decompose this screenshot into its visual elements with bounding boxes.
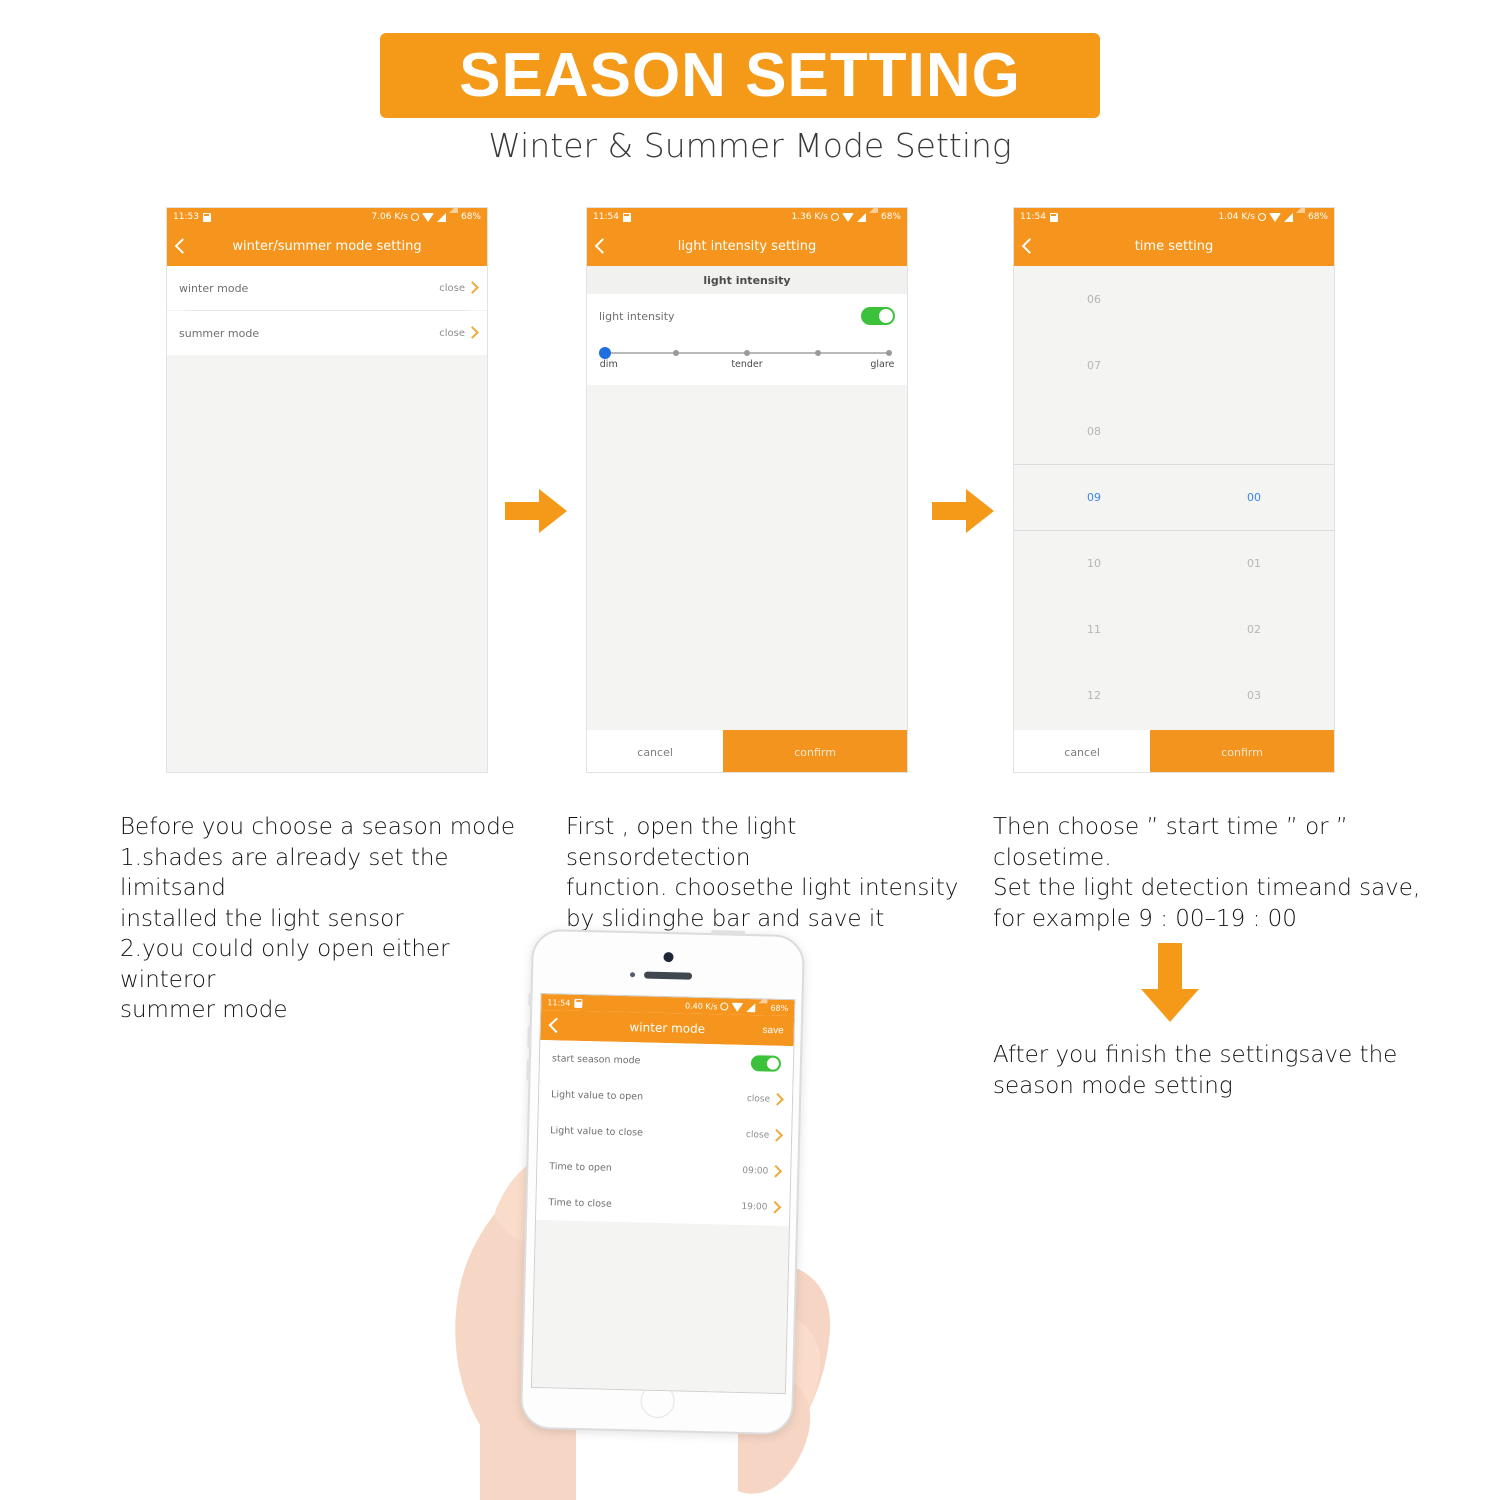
screen-body: 06 07 08 09 10 11 12 00 01 02 03 cancel … bbox=[1014, 266, 1334, 773]
wifi-icon bbox=[731, 1002, 743, 1011]
row-label: summer mode bbox=[179, 327, 259, 340]
slider-thumb[interactable] bbox=[599, 347, 611, 359]
slider-tick bbox=[673, 350, 679, 356]
status-time: 11:53 bbox=[173, 212, 199, 222]
row-label: Time to open bbox=[549, 1161, 612, 1174]
signal-secondary-icon bbox=[869, 213, 878, 222]
slider-track[interactable] bbox=[605, 352, 889, 354]
row-label: winter mode bbox=[179, 282, 248, 295]
picker-item-hour[interactable]: 12 bbox=[1087, 662, 1101, 728]
hand-holding-phone: 11:54 0.40 K/s 68% winter mode bbox=[330, 905, 860, 1500]
slider-label-tender: tender bbox=[731, 359, 762, 370]
light-intensity-slider[interactable]: dim tender glare bbox=[587, 338, 907, 385]
screen-filler bbox=[587, 385, 907, 730]
picker-item-minute-selected[interactable]: 00 bbox=[1247, 464, 1261, 530]
app-bar-title: winter/summer mode setting bbox=[167, 239, 487, 254]
page-subtitle: Winter & Summer Mode Setting bbox=[0, 126, 1500, 165]
chevron-right-icon bbox=[771, 1093, 784, 1106]
screenshot-winter-summer-mode-setting: 11:53 7.06 K/s 68% winter/summer mode se… bbox=[166, 207, 488, 773]
caption-step-4: After you finish the settingsave the sea… bbox=[993, 1040, 1413, 1101]
phone-screen: 11:54 0.40 K/s 68% winter mode bbox=[531, 993, 796, 1394]
slider-tick bbox=[815, 350, 821, 356]
slider-tick bbox=[744, 350, 750, 356]
status-network-speed: 1.04 K/s bbox=[1218, 212, 1255, 222]
confirm-button[interactable]: confirm bbox=[1150, 730, 1334, 773]
arrow-down-icon bbox=[1140, 943, 1200, 1023]
phone-device: 11:54 0.40 K/s 68% winter mode bbox=[520, 929, 805, 1436]
power-button[interactable] bbox=[711, 930, 745, 936]
chevron-right-icon bbox=[769, 1165, 782, 1178]
picker-column-hours[interactable]: 06 07 08 09 10 11 12 bbox=[1014, 266, 1174, 730]
volume-up-button[interactable] bbox=[527, 1026, 532, 1048]
row-label: Time to close bbox=[548, 1197, 612, 1210]
row-value: close bbox=[439, 328, 465, 339]
status-bar: 11:54 1.04 K/s 68% bbox=[1014, 208, 1334, 226]
row-light-value-to-close[interactable]: Light value to close close bbox=[538, 1112, 792, 1154]
signal-secondary-icon bbox=[1296, 213, 1305, 222]
status-time: 11:54 bbox=[547, 998, 570, 1008]
row-label: Light value to open bbox=[551, 1089, 643, 1102]
screen-body: light intensity light intensity dim tend… bbox=[587, 266, 907, 773]
row-light-value-to-open[interactable]: Light value to open close bbox=[539, 1076, 793, 1118]
screenshot-time-setting: 11:54 1.04 K/s 68% time setting 06 bbox=[1013, 207, 1335, 773]
slider-tick bbox=[886, 350, 892, 356]
app-bar: time setting bbox=[1014, 226, 1334, 266]
save-button[interactable]: save bbox=[762, 1025, 783, 1037]
confirm-button[interactable]: confirm bbox=[723, 730, 907, 773]
page-title: SEASON SETTING bbox=[459, 40, 1021, 111]
picker-item-minute[interactable]: 01 bbox=[1247, 530, 1261, 596]
row-label: Light value to close bbox=[550, 1125, 643, 1138]
chevron-right-icon bbox=[466, 326, 479, 339]
signal-icon bbox=[1284, 213, 1293, 222]
row-value: close bbox=[747, 1094, 770, 1105]
picker-item-hour[interactable]: 11 bbox=[1087, 596, 1101, 662]
screen-body: start season mode Light value to open cl… bbox=[532, 1040, 793, 1394]
row-winter-mode[interactable]: winter mode close bbox=[167, 266, 487, 310]
status-battery: 68% bbox=[770, 1003, 788, 1012]
earpiece-speaker bbox=[643, 971, 691, 979]
picker-item-minute[interactable]: 02 bbox=[1247, 596, 1261, 662]
status-battery: 68% bbox=[461, 212, 481, 222]
proximity-sensor-icon bbox=[629, 972, 634, 977]
title-banner: SEASON SETTING bbox=[380, 33, 1100, 118]
app-bar-title: winter mode bbox=[541, 1018, 794, 1038]
picker-item-hour-selected[interactable]: 09 bbox=[1087, 464, 1101, 530]
row-value: 19:00 bbox=[741, 1202, 767, 1213]
picker-item-hour[interactable]: 08 bbox=[1087, 398, 1101, 464]
status-time: 11:54 bbox=[593, 212, 619, 222]
picker-item-hour[interactable]: 06 bbox=[1087, 266, 1101, 332]
status-bar: 11:53 7.06 K/s 68% bbox=[167, 208, 487, 226]
status-bar: 11:54 1.36 K/s 68% bbox=[587, 208, 907, 226]
chevron-right-icon bbox=[769, 1201, 782, 1214]
app-bar-title: light intensity setting bbox=[587, 239, 907, 254]
signal-secondary-icon bbox=[758, 1003, 767, 1012]
start-season-mode-toggle[interactable] bbox=[751, 1055, 781, 1072]
status-battery: 68% bbox=[1308, 212, 1328, 222]
section-header-light-intensity: light intensity bbox=[587, 266, 907, 294]
status-network-speed: 7.06 K/s bbox=[371, 212, 408, 222]
sdcard-icon bbox=[623, 213, 631, 222]
volume-down-button[interactable] bbox=[526, 1059, 531, 1081]
wifi-icon bbox=[1269, 213, 1281, 222]
button-bar: cancel confirm bbox=[1014, 730, 1334, 773]
row-value: close bbox=[439, 283, 465, 294]
chevron-right-icon bbox=[770, 1129, 783, 1142]
slider-label-glare: glare bbox=[870, 359, 894, 370]
toggle-knob bbox=[879, 309, 893, 323]
sdcard-icon bbox=[1050, 213, 1058, 222]
screen-body: winter mode close summer mode close bbox=[167, 266, 487, 773]
picker-item-hour[interactable]: 07 bbox=[1087, 332, 1101, 398]
app-bar: winter/summer mode setting bbox=[167, 226, 487, 266]
alarm-icon bbox=[831, 213, 839, 221]
button-bar: cancel confirm bbox=[587, 730, 907, 773]
wifi-icon bbox=[422, 213, 434, 222]
cancel-button[interactable]: cancel bbox=[1014, 730, 1150, 773]
status-network-speed: 1.36 K/s bbox=[791, 212, 828, 222]
cancel-button[interactable]: cancel bbox=[587, 730, 723, 773]
chevron-right-icon bbox=[466, 281, 479, 294]
signal-icon bbox=[746, 1003, 755, 1012]
status-battery: 68% bbox=[881, 212, 901, 222]
picker-item-minute[interactable]: 03 bbox=[1247, 662, 1261, 728]
arrow-right-icon-1 bbox=[505, 488, 567, 534]
arrow-right-icon-2 bbox=[932, 488, 994, 534]
row-label: start season mode bbox=[552, 1053, 641, 1066]
status-time: 11:54 bbox=[1020, 212, 1046, 222]
row-time-to-close[interactable]: Time to close 19:00 bbox=[536, 1184, 790, 1226]
sdcard-icon bbox=[574, 998, 582, 1007]
poster-page: SEASON SETTING Winter & Summer Mode Sett… bbox=[0, 0, 1500, 1500]
caption-step-3: Then choose ” start time ” or ” closetim… bbox=[993, 812, 1443, 934]
alarm-icon bbox=[1258, 213, 1266, 221]
app-bar: light intensity setting bbox=[587, 226, 907, 266]
row-label: light intensity bbox=[599, 310, 675, 323]
toggle-knob bbox=[767, 1058, 779, 1070]
alarm-icon bbox=[720, 1002, 728, 1010]
screenshot-light-intensity-setting: 11:54 1.36 K/s 68% light intensity setti… bbox=[586, 207, 908, 773]
row-time-to-open[interactable]: Time to open 09:00 bbox=[537, 1148, 791, 1190]
time-picker[interactable]: 06 07 08 09 10 11 12 00 01 02 03 bbox=[1014, 266, 1334, 730]
signal-icon bbox=[857, 213, 866, 222]
signal-icon bbox=[437, 213, 446, 222]
picker-column-minutes[interactable]: 00 01 02 03 bbox=[1174, 266, 1334, 730]
mute-switch[interactable] bbox=[528, 993, 532, 1007]
light-intensity-toggle[interactable] bbox=[861, 307, 895, 325]
row-start-season-mode[interactable]: start season mode bbox=[540, 1040, 794, 1082]
wifi-icon bbox=[842, 213, 854, 222]
alarm-icon bbox=[411, 213, 419, 221]
row-value: 09:00 bbox=[742, 1166, 768, 1177]
row-light-intensity-toggle[interactable]: light intensity bbox=[587, 294, 907, 338]
front-camera-icon bbox=[663, 952, 673, 962]
slider-labels: dim tender glare bbox=[603, 359, 891, 375]
sdcard-icon bbox=[203, 213, 211, 222]
row-summer-mode[interactable]: summer mode close bbox=[167, 311, 487, 355]
slider-label-dim: dim bbox=[600, 359, 618, 370]
row-value: close bbox=[746, 1130, 769, 1141]
app-bar-title: time setting bbox=[1014, 239, 1334, 254]
picker-item-hour[interactable]: 10 bbox=[1087, 530, 1101, 596]
signal-secondary-icon bbox=[449, 213, 458, 222]
status-network-speed: 0.40 K/s bbox=[685, 1001, 718, 1011]
